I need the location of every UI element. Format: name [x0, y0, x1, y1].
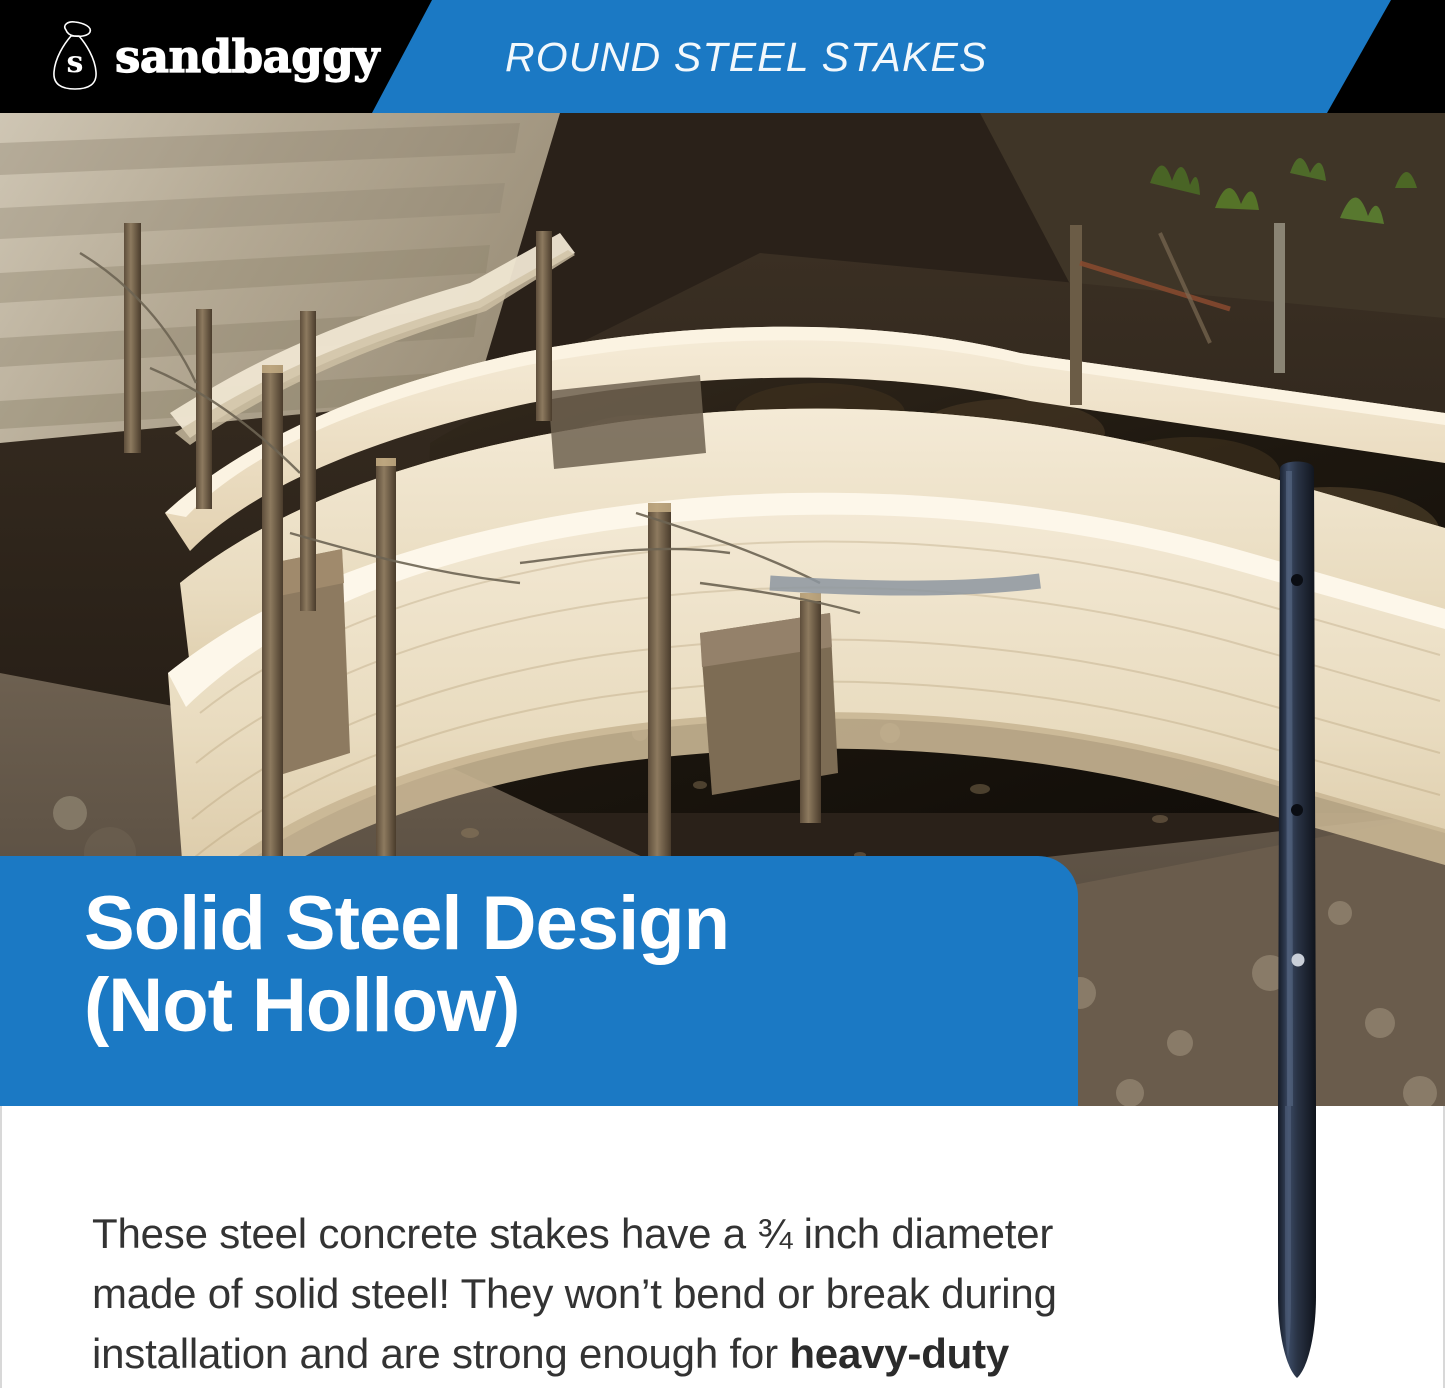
- header-bar: s sandbaggy ROUND STEEL STAKES: [0, 0, 1445, 113]
- brand-logo[interactable]: s sandbaggy: [44, 18, 379, 94]
- diameter-fraction: ¾: [757, 1210, 792, 1257]
- svg-text:s: s: [67, 45, 84, 80]
- header-title: ROUND STEEL STAKES: [505, 33, 988, 81]
- infographic-page: s sandbaggy ROUND STEEL STAKES: [0, 0, 1445, 1388]
- headline-text: Solid Steel Design (Not Hollow): [84, 883, 1064, 1047]
- sandbag-s-icon: s: [44, 18, 104, 94]
- headline-line-2: (Not Hollow): [84, 965, 1064, 1047]
- headline-panel: Solid Steel Design (Not Hollow): [0, 856, 1078, 1106]
- description-section: These steel concrete stakes have a ¾ inc…: [0, 1106, 1445, 1388]
- brand-wordmark: sandbaggy: [115, 34, 379, 79]
- headline-line-1: Solid Steel Design: [84, 883, 1064, 965]
- description-text: These steel concrete stakes have a ¾ inc…: [92, 1204, 1152, 1388]
- description-part-1: These steel concrete stakes have a: [92, 1210, 757, 1257]
